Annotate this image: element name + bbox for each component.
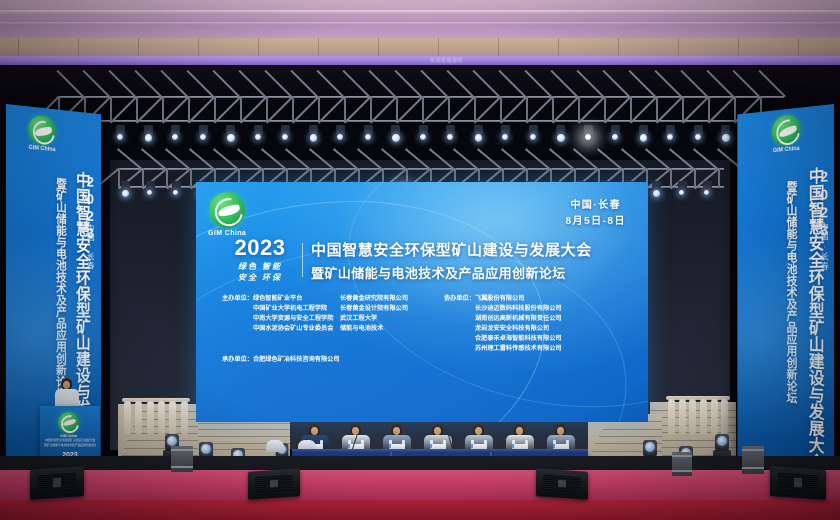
screen-title-row: 2023 绿色 智能 安全 环保 中国智慧安全环保型矿山建设与发展大会 暨矿山储… bbox=[226, 237, 626, 284]
cornice-seam bbox=[498, 38, 499, 56]
balustrade-post bbox=[711, 399, 718, 435]
cornice-seam bbox=[678, 38, 679, 56]
truss-vertical bbox=[318, 96, 320, 122]
truss-vertical bbox=[734, 96, 736, 122]
cornice-seam bbox=[78, 38, 79, 56]
ceiling bbox=[0, 0, 840, 40]
truss-diagonal bbox=[370, 96, 397, 123]
truss-vertical bbox=[370, 96, 372, 122]
balustrade-post bbox=[169, 401, 176, 435]
gim-logo-podium: GIM China bbox=[58, 412, 79, 438]
spotlight bbox=[117, 134, 123, 140]
co-item: 龙岩龙安安全科技有限公司 bbox=[444, 324, 562, 334]
panelist-face bbox=[434, 427, 441, 435]
balustrade-post bbox=[181, 401, 188, 435]
panelist-face bbox=[557, 427, 564, 435]
truss-vertical bbox=[694, 168, 696, 188]
organizer-name: 合肥绿色矿冶科技咨询有限公司 bbox=[253, 356, 340, 363]
cornice-seam bbox=[738, 38, 739, 56]
lighting-truss-top bbox=[58, 96, 784, 122]
monitor-badge bbox=[270, 479, 278, 487]
spotlight bbox=[172, 134, 178, 140]
spotlight bbox=[612, 134, 618, 140]
screen-location-date: 中国·长春 8月5日-8日 bbox=[565, 198, 626, 229]
balustrade-rail bbox=[666, 396, 730, 400]
truss-vertical bbox=[448, 96, 450, 122]
moving-head-lens bbox=[167, 436, 177, 446]
truss-diagonal bbox=[266, 96, 293, 123]
moving-head-lens bbox=[717, 436, 727, 446]
truss-diagonal bbox=[708, 96, 735, 123]
ceiling-ridge bbox=[0, 10, 840, 14]
host-column-2: 长春黄金研究院有限公司 长春黄金设计院有限公司 武汉工程大学 储能与电池技术 bbox=[340, 294, 444, 354]
cornice-seam bbox=[438, 38, 439, 56]
truss-diagonal bbox=[396, 96, 423, 123]
spotlight bbox=[722, 134, 730, 142]
spotlight bbox=[447, 134, 453, 140]
truss-vertical bbox=[142, 168, 144, 188]
spotlight bbox=[392, 134, 400, 142]
host-first: 绿色智能矿业平台 bbox=[253, 295, 303, 302]
ceiling-cornice bbox=[0, 38, 840, 56]
gim-mark-icon bbox=[58, 412, 79, 433]
balustrade-rail bbox=[122, 398, 190, 402]
truss-vertical bbox=[656, 96, 658, 122]
gim-wordmark: GIM China bbox=[29, 145, 56, 153]
co-item: 湖南创远高新机械有限责任公司 bbox=[444, 314, 562, 324]
spotlight bbox=[337, 134, 343, 140]
balustrade-post bbox=[679, 399, 686, 435]
stair-step bbox=[198, 436, 290, 437]
stage-monitor-center-right bbox=[536, 468, 588, 500]
co-item: 合肥泰禾卓海智能科技有限公司 bbox=[444, 334, 562, 344]
truss-vertical bbox=[718, 168, 720, 188]
case-strip bbox=[672, 455, 692, 457]
co-label: 协办单位：飞翼股份有限公司 bbox=[444, 294, 562, 304]
screen-slogan: 绿色 智能 安全 环保 bbox=[238, 262, 282, 284]
truss-vertical bbox=[214, 96, 216, 122]
case-strip bbox=[672, 470, 692, 472]
organizer-label: 承办单位： bbox=[222, 356, 253, 363]
cornice-seam bbox=[618, 38, 619, 56]
truss-vertical bbox=[500, 96, 502, 122]
truss-diagonal bbox=[448, 96, 475, 123]
balustrade-post bbox=[147, 401, 154, 435]
banner-left-location: 中国·长春 bbox=[86, 223, 96, 270]
balustrade-post bbox=[158, 401, 165, 435]
spotlight bbox=[122, 190, 129, 197]
moving-head-lens bbox=[645, 442, 655, 452]
truss-diagonal bbox=[292, 96, 319, 123]
balustrade-post bbox=[689, 399, 696, 435]
gim-mark-icon bbox=[209, 192, 245, 228]
monitor-badge bbox=[794, 478, 803, 487]
truss-diagonal bbox=[630, 96, 657, 123]
truss-rail-top bbox=[118, 168, 724, 170]
truss-vertical bbox=[708, 96, 710, 122]
podium-line-2: 暨矿山储能与电池技术及产品应用创新论坛 bbox=[44, 443, 96, 447]
co-organizer-column: 协办单位：飞翼股份有限公司 长沙迪迈数码科技股份有限公司 湖南创远高新机械有限责… bbox=[444, 294, 562, 354]
case-strip bbox=[742, 467, 764, 469]
truss-diagonal bbox=[344, 96, 371, 123]
screen-year: 2023 bbox=[235, 237, 286, 259]
truss-vertical bbox=[474, 96, 476, 122]
truss-vertical bbox=[118, 168, 120, 188]
gim-mark-icon bbox=[772, 114, 801, 148]
chair-back bbox=[266, 440, 284, 452]
spotlight bbox=[704, 190, 709, 195]
balustrade-post bbox=[721, 399, 728, 435]
moving-head-lens bbox=[201, 444, 211, 454]
banner-right-location: 中国·长春 bbox=[819, 222, 830, 271]
spotlight bbox=[420, 134, 426, 140]
truss-vertical bbox=[162, 96, 164, 122]
co-item: 苏州理工雷科传感技术有限公司 bbox=[444, 344, 562, 354]
host-item: 中南大学资源与安全工程学院 bbox=[222, 314, 340, 324]
stage-monitor-left bbox=[30, 466, 84, 500]
equipment-case-right bbox=[742, 446, 764, 474]
spotlight bbox=[365, 134, 371, 140]
host-item: 储能与电池技术 bbox=[340, 324, 444, 334]
truss-vertical bbox=[344, 96, 346, 122]
spotlight bbox=[695, 134, 701, 140]
gim-logo-right-banner: GIM China bbox=[772, 114, 801, 155]
gim-mark-icon bbox=[28, 114, 55, 146]
stair-step bbox=[136, 419, 198, 420]
truss-diagonal bbox=[422, 96, 449, 123]
slogan-line-1: 绿色 智能 bbox=[238, 262, 282, 273]
spotlight bbox=[255, 134, 261, 140]
truss-vertical bbox=[110, 96, 112, 122]
truss-diagonal bbox=[474, 96, 501, 123]
spotlight bbox=[640, 134, 648, 142]
stair-step bbox=[599, 436, 662, 437]
truss-diagonal bbox=[188, 96, 215, 123]
truss-diagonal bbox=[110, 96, 137, 123]
spotlight bbox=[557, 134, 565, 142]
panelist-face bbox=[393, 427, 400, 435]
spotlight bbox=[679, 190, 684, 195]
gim-logo-main-screen: GIM China bbox=[208, 192, 246, 237]
gim-wordmark: GIM China bbox=[773, 146, 800, 154]
red-carpet bbox=[0, 500, 840, 520]
stage-monitor-center-left bbox=[248, 468, 300, 500]
banner-right-title-sub: 暨矿山储能与电池技术及产品应用创新论坛 bbox=[786, 180, 797, 469]
cornice-seam bbox=[318, 38, 319, 56]
side-banner-right: GIM China 中国智慧安全环保型矿山建设与发展大会 暨矿山储能与电池技术及… bbox=[737, 104, 834, 494]
cornice-seam bbox=[558, 38, 559, 56]
spotlight bbox=[530, 134, 536, 140]
truss-vertical bbox=[578, 96, 580, 122]
spotlight bbox=[667, 134, 673, 140]
truss-vertical bbox=[604, 96, 606, 122]
slogan-line-2: 安全 环保 bbox=[238, 273, 282, 284]
host-label: 主办单位：绿色智能矿业平台 bbox=[222, 294, 340, 304]
cornice-seam bbox=[798, 38, 799, 56]
podium-line-1: 中国智慧安全环保型矿山建设与发展大会 bbox=[44, 438, 96, 442]
spotlight bbox=[310, 134, 318, 142]
truss-diagonal bbox=[552, 96, 579, 123]
host-item: 中国水泥协会矿山专业委员会 bbox=[222, 324, 340, 334]
title-divider bbox=[302, 243, 303, 277]
main-led-screen: GIM China 中国·长春 8月5日-8日 2023 绿色 智能 安全 环保… bbox=[196, 182, 648, 422]
truss-vertical bbox=[266, 96, 268, 122]
spotlight bbox=[585, 134, 591, 140]
truss-vertical bbox=[396, 96, 398, 122]
truss-diagonal bbox=[578, 96, 605, 123]
truss-vertical bbox=[240, 96, 242, 122]
ceiling-led-strip bbox=[0, 56, 840, 65]
balustrade-post bbox=[700, 399, 707, 435]
truss-vertical bbox=[190, 168, 192, 188]
stair-step bbox=[603, 429, 662, 430]
panelist-face bbox=[311, 427, 318, 435]
truss-diagonal bbox=[526, 96, 553, 123]
cornice-seam bbox=[18, 38, 19, 56]
gim-logo-left-banner: GIM China bbox=[28, 114, 55, 153]
stair-step bbox=[198, 423, 290, 424]
spotlight bbox=[200, 134, 206, 140]
pink-carpet bbox=[0, 470, 840, 502]
truss-vertical bbox=[166, 168, 168, 188]
host-item: 长春黄金设计院有限公司 bbox=[340, 304, 444, 314]
case-strip bbox=[171, 466, 193, 468]
truss-vertical bbox=[526, 96, 528, 122]
panelist-face bbox=[475, 427, 482, 435]
spotlight bbox=[173, 190, 178, 195]
organizer-line: 承办单位：合肥绿色矿冶科技咨询有限公司 bbox=[222, 354, 340, 363]
screen-location: 中国·长春 bbox=[565, 198, 626, 214]
co-first: 飞翼股份有限公司 bbox=[475, 295, 525, 302]
spotlight bbox=[475, 134, 483, 142]
spotlight bbox=[145, 134, 153, 142]
stair-step bbox=[133, 426, 198, 427]
conference-stage-photo: 欢迎莅临指导 GIM China 中国智慧安全环保型矿山建设与发展大会 暨矿山储… bbox=[0, 0, 840, 520]
cornice-seam bbox=[138, 38, 139, 56]
panelist-face bbox=[516, 427, 523, 435]
truss-diagonal bbox=[682, 96, 709, 123]
host-column-1: 主办单位：绿色智能矿业平台 中国矿业大学机电工程学院 中南大学资源与安全工程学院… bbox=[222, 294, 340, 354]
truss-diagonal bbox=[214, 96, 241, 123]
spotlight bbox=[227, 134, 235, 142]
panelist-face bbox=[352, 427, 359, 435]
banner-right-year: 2023 bbox=[816, 168, 832, 240]
cornice-seam bbox=[258, 38, 259, 56]
truss-vertical bbox=[292, 96, 294, 122]
balustrade-post bbox=[135, 401, 142, 435]
truss-vertical bbox=[422, 96, 424, 122]
truss-diagonal bbox=[500, 96, 527, 123]
screen-year-block: 2023 绿色 智能 安全 环保 bbox=[226, 237, 294, 284]
co-item: 长沙迪迈数码科技股份有限公司 bbox=[444, 304, 562, 314]
equipment-case-center-right bbox=[672, 452, 692, 476]
truss-vertical bbox=[670, 168, 672, 188]
case-strip bbox=[171, 449, 193, 451]
screen-title-lines: 中国智慧安全环保型矿山建设与发展大会 暨矿山储能与电池技术及产品应用创新论坛 bbox=[311, 239, 592, 282]
truss-vertical bbox=[682, 96, 684, 122]
monitor-badge bbox=[558, 479, 566, 487]
spotlight bbox=[653, 190, 660, 197]
spotlight bbox=[502, 134, 508, 140]
stair-step bbox=[198, 429, 290, 430]
host-item: 武汉工程大学 bbox=[340, 314, 444, 324]
balustrade-post bbox=[124, 401, 131, 435]
screen-title-line-1: 中国智慧安全环保型矿山建设与发展大会 bbox=[311, 239, 592, 260]
truss-vertical bbox=[630, 96, 632, 122]
screen-title-line-2: 暨矿山储能与电池技术及产品应用创新论坛 bbox=[311, 263, 592, 282]
host-item: 长春黄金研究院有限公司 bbox=[340, 294, 444, 304]
truss-diagonal bbox=[136, 96, 163, 123]
truss-vertical bbox=[188, 96, 190, 122]
stage-monitor-right bbox=[770, 466, 826, 500]
banner-left-year: 2023 bbox=[83, 174, 98, 243]
speaker-face bbox=[63, 381, 70, 389]
balustrade-post bbox=[668, 399, 675, 435]
cornice-seam bbox=[198, 38, 199, 56]
spotlight bbox=[282, 134, 288, 140]
cornice-seam bbox=[378, 38, 379, 56]
screen-sponsor-block: 主办单位：绿色智能矿业平台 中国矿业大学机电工程学院 中南大学资源与安全工程学院… bbox=[222, 294, 634, 354]
truss-diagonal bbox=[318, 96, 345, 123]
screen-dates: 8月5日-8日 bbox=[565, 214, 626, 230]
truss-diagonal bbox=[656, 96, 683, 123]
truss-vertical bbox=[552, 96, 554, 122]
ceiling-led-text: 欢迎莅临指导 bbox=[430, 57, 630, 64]
truss-vertical bbox=[136, 96, 138, 122]
case-strip bbox=[742, 449, 764, 451]
truss-diagonal bbox=[240, 96, 267, 123]
monitor-badge bbox=[53, 478, 62, 487]
truss-diagonal bbox=[162, 96, 189, 123]
truss-diagonal bbox=[604, 96, 631, 123]
ceiling-ridge-secondary bbox=[0, 22, 840, 25]
host-item: 中国矿业大学机电工程学院 bbox=[222, 304, 340, 314]
equipment-case-left bbox=[171, 446, 193, 472]
